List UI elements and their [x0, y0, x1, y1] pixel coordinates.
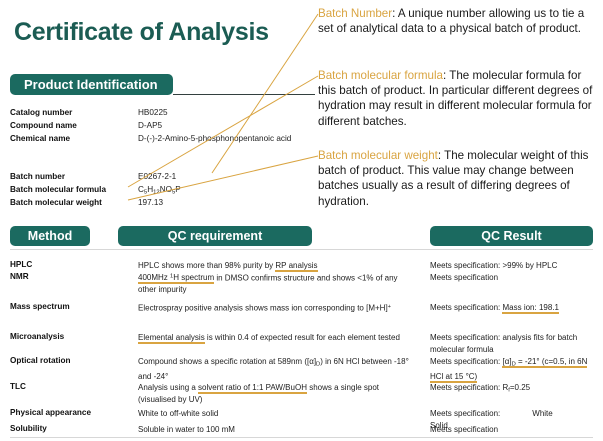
qc-result-cell: Meets specification — [430, 424, 602, 436]
field-value-batch-molecular-formula: C5H12NO5P — [138, 185, 181, 195]
field-label-catalog-number: Catalog number — [10, 108, 72, 117]
banner-divider — [173, 94, 315, 95]
column-header-qc-requirement: QC requirement — [118, 226, 312, 246]
field-label-batch-molecular-weight: Batch molecular weight — [10, 198, 102, 207]
qc-result-cell: Meets specification: Mass ion: 198.1 — [430, 302, 602, 314]
qc-method-label: Optical rotation — [10, 356, 71, 365]
field-value-batch-number: E0267-2-1 — [138, 172, 176, 181]
field-value-compound-name: D-AP5 — [138, 121, 162, 130]
qc-requirement-cell: Electrospray positive analysis shows mas… — [138, 302, 413, 314]
certificate-document: Certificate of Analysis Product Identifi… — [0, 0, 603, 441]
qc-requirement-cell: HPLC shows more than 98% purity by RP an… — [138, 260, 413, 272]
highlight-underline: [α]D = -21° (c=0.5, in 6N HCl at 15 °C) — [430, 357, 587, 383]
field-label-batch-molecular-formula: Batch molecular formula — [10, 185, 106, 194]
qc-result-cell: Meets specification: Rf=0.25 — [430, 382, 602, 397]
product-identification-banner: Product Identification — [10, 74, 173, 95]
qc-method-label: HPLC — [10, 260, 32, 269]
field-value-catalog-number: HB0225 — [138, 108, 168, 117]
qc-method-label: Physical appearance — [10, 408, 91, 417]
qc-method-label: Solubility — [10, 424, 47, 433]
annotation-batch-molecular-weight: Batch molecular weight: The molecular we… — [318, 148, 602, 209]
qc-method-label: TLC — [10, 382, 26, 391]
highlight-underline: solvent ratio of 1:1 PAW/BuOH — [198, 383, 307, 394]
field-label-chemical-name: Chemical name — [10, 134, 70, 143]
field-value-chemical-name: D-(-)-2-Amino-5-phosphonopentanoic acid — [138, 134, 291, 143]
qc-requirement-cell: Elemental analysis is within 0.4 of expe… — [138, 332, 413, 344]
qc-requirement-cell: Soluble in water to 100 mM — [138, 424, 413, 436]
table-header-divider — [10, 249, 593, 250]
field-label-batch-number: Batch number — [10, 172, 65, 181]
qc-requirement-cell: Compound shows a specific rotation at 58… — [138, 356, 413, 382]
annotation-batch-molecular-formula: Batch molecular formula: The molecular f… — [318, 68, 602, 129]
highlight-underline: RP analysis — [275, 261, 317, 272]
qc-requirement-cell: 400MHz 1H spectrum in DMSO confirms stru… — [138, 272, 413, 295]
table-bottom-divider — [10, 437, 593, 438]
annotation-term: Batch molecular weight — [318, 149, 438, 162]
highlight-underline: 400MHz 1H spectrum — [138, 273, 214, 284]
annotation-term: Batch Number — [318, 7, 392, 20]
qc-method-label: NMR — [10, 272, 29, 281]
column-header-qc-result: QC Result — [430, 226, 593, 246]
highlight-underline: Elemental analysis — [138, 333, 205, 344]
highlight-underline: Mass ion: 198.1 — [502, 303, 558, 314]
qc-method-label: Mass spectrum — [10, 302, 70, 311]
qc-requirement-cell: White to off-white solid — [138, 408, 413, 420]
qc-requirement-cell: Analysis using a solvent ratio of 1:1 PA… — [138, 382, 413, 405]
column-header-method: Method — [10, 226, 90, 246]
field-value-batch-molecular-weight: 197.13 — [138, 198, 163, 207]
qc-result-cell: Meets specification: [α]D = -21° (c=0.5,… — [430, 356, 602, 382]
qc-result-cell: Meets specification: analysis fits for b… — [430, 332, 602, 355]
annotation-term: Batch molecular formula — [318, 69, 443, 82]
qc-result-cell: Meets specification — [430, 272, 602, 284]
field-label-compound-name: Compound name — [10, 121, 77, 130]
qc-method-label: Microanalysis — [10, 332, 64, 341]
page-title: Certificate of Analysis — [14, 18, 269, 47]
qc-result-cell: Meets specification: >99% by HPLC — [430, 260, 602, 272]
annotation-batch-number: Batch Number: A unique number allowing u… — [318, 6, 602, 36]
